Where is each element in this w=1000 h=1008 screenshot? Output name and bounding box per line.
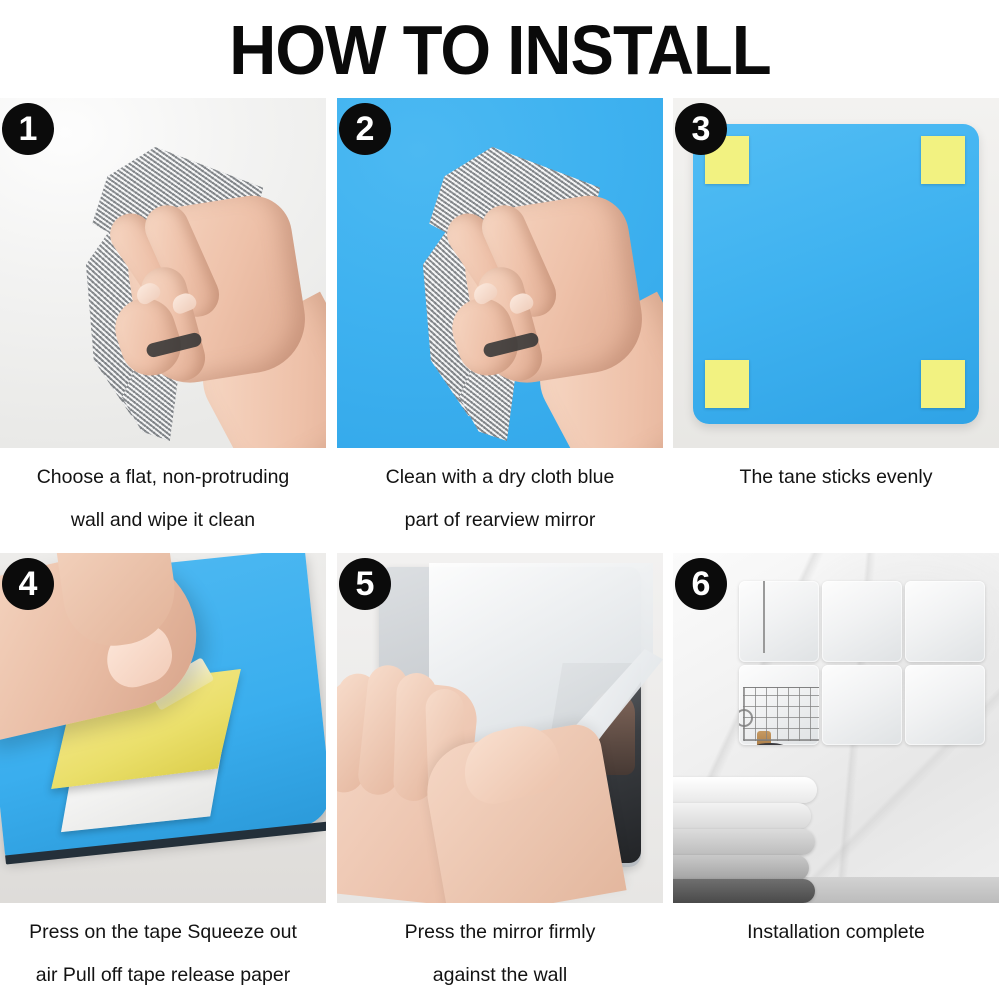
step-caption-5: Press the mirror firmly against the wall [337, 911, 663, 997]
step-photo-1: 1 [0, 98, 326, 448]
step-caption-2: Clean with a dry cloth blue part of rear… [337, 456, 663, 542]
step-badge-5: 5 [339, 558, 391, 610]
step-caption-6: Installation complete [673, 911, 999, 954]
towel [673, 803, 811, 829]
step-badge-1: 1 [2, 103, 54, 155]
step-badge-4: 4 [2, 558, 54, 610]
step-caption-1: Choose a flat, non-protruding wall and w… [0, 456, 326, 542]
step-card-6: 6 Installation complete [673, 553, 999, 1008]
wire-shelf-reflection [743, 687, 819, 741]
installed-mirror-tiles [739, 581, 985, 745]
tape-square-bottom-right [921, 360, 965, 408]
folded-towel-stack [673, 775, 825, 903]
tape-square-bottom-left [705, 360, 749, 408]
caption-line: Clean with a dry cloth blue [337, 456, 663, 499]
step-card-2: 2 Clean with a dry cloth blue part of re… [337, 98, 663, 553]
step-card-4: 4 Press on the tape Squeeze out air Pull… [0, 553, 326, 1008]
step-photo-2: 2 [337, 98, 663, 448]
step-caption-3: The tane sticks evenly [673, 456, 999, 499]
towel [673, 829, 815, 855]
caption-line: wall and wipe it clean [0, 499, 326, 542]
step-card-1: 1 Choose a flat, non-protruding wall and… [0, 98, 326, 553]
step-photo-4: 4 [0, 553, 326, 903]
mirror-tile [739, 665, 819, 746]
step-photo-5: 5 [337, 553, 663, 903]
caption-line: air Pull off tape release paper [0, 954, 326, 997]
towel [673, 855, 809, 881]
towel [673, 879, 815, 903]
mirror-tile [905, 581, 985, 662]
caption-line: against the wall [337, 954, 663, 997]
step-badge-2: 2 [339, 103, 391, 155]
pendant-lamp-cord-reflection [763, 581, 765, 653]
mirror-tile [739, 581, 819, 662]
steps-row-top: 1 Choose a flat, non-protruding wall and… [0, 98, 1000, 553]
step-badge-3: 3 [675, 103, 727, 155]
page-title: HOW TO INSTALL [35, 8, 965, 92]
pendant-lamp-shade-reflection [739, 743, 801, 746]
caption-line: Press on the tape Squeeze out [0, 911, 326, 954]
steps-grid: 1 Choose a flat, non-protruding wall and… [0, 98, 1000, 1008]
mirror-tile [822, 665, 902, 746]
step-card-3: 3 The tane sticks evenly [673, 98, 999, 553]
caption-line: Press the mirror firmly [337, 911, 663, 954]
caption-line: part of rearview mirror [337, 499, 663, 542]
tape-square-top-right [921, 136, 965, 184]
caption-line: Choose a flat, non-protruding [0, 456, 326, 499]
mirror-tile [905, 665, 985, 746]
caption-line: The tane sticks evenly [673, 456, 999, 499]
mirror-tile [822, 581, 902, 662]
step-photo-3: 3 [673, 98, 999, 448]
step-badge-6: 6 [675, 558, 727, 610]
caption-line: Installation complete [673, 911, 999, 954]
blue-mirror-back-panel [693, 124, 979, 424]
step-photo-6: 6 [673, 553, 999, 903]
how-to-install-infographic: HOW TO INSTALL [0, 0, 1000, 1000]
steps-row-bottom: 4 Press on the tape Squeeze out air Pull… [0, 553, 1000, 1008]
step-card-5: 5 Press the mirror firmly against the wa… [337, 553, 663, 1008]
towel [673, 777, 817, 803]
step-caption-4: Press on the tape Squeeze out air Pull o… [0, 911, 326, 997]
